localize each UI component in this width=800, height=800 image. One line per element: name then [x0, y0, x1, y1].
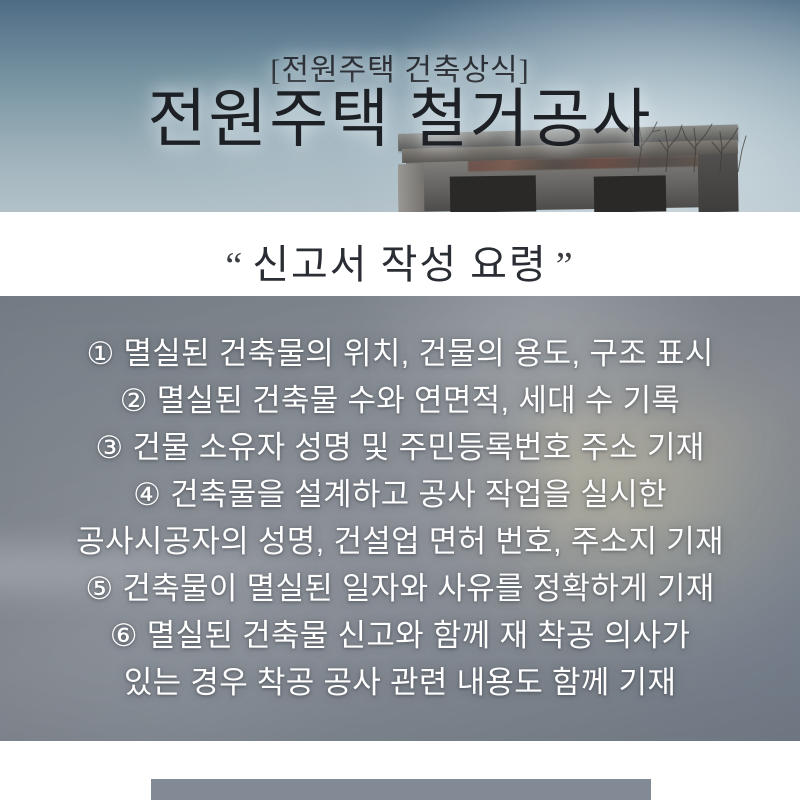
- content-section: ① 멸실된 건축물의 위치, 건물의 용도, 구조 표시 ② 멸실된 건축물 수…: [0, 296, 800, 741]
- subtitle-text: 신고서 작성 요령: [252, 242, 548, 287]
- kicker-label: [전원주택 건축상식]: [0, 45, 800, 89]
- list-item: ⑤ 건축물이 멸실된 일자와 사유를 정확하게 기재: [0, 565, 800, 612]
- hero-photo-banner: [전원주택 건축상식] 전원주택 철거공사: [0, 0, 800, 212]
- list-item: ③ 건물 소유자 성명 및 주민등록번호 주소 기재: [0, 424, 800, 471]
- subtitle: “신고서 작성 요령”: [0, 232, 800, 290]
- list-item: 공사시공자의 성명, 건설업 면허 번호, 주소지 기재: [0, 518, 800, 565]
- footer-area: [0, 741, 800, 800]
- building-window-right: [594, 175, 667, 212]
- infographic-card: [전원주택 건축상식] 전원주택 철거공사 “신고서 작성 요령” ① 멸실된 …: [0, 0, 800, 800]
- list-item: ⑥ 멸실된 건축물 신고와 함께 재 착공 의사가: [0, 612, 800, 659]
- footer-divider-bar: [151, 779, 651, 800]
- subtitle-band: “신고서 작성 요령”: [0, 212, 800, 296]
- list-item: ④ 건축물을 설계하고 공사 작업을 실시한: [0, 471, 800, 518]
- page-title: 전원주택 철거공사: [0, 88, 800, 152]
- list-item: ② 멸실된 건축물 수와 연면적, 세대 수 기록: [0, 377, 800, 424]
- list-item: ① 멸실된 건축물의 위치, 건물의 용도, 구조 표시: [0, 330, 800, 377]
- close-quote-mark: ”: [548, 245, 583, 287]
- building-pillar: [398, 164, 424, 212]
- open-quote-mark: “: [217, 245, 252, 287]
- list-item: 있는 경우 착공 공사 관련 내용도 함께 기재: [0, 659, 800, 706]
- instruction-list: ① 멸실된 건축물의 위치, 건물의 용도, 구조 표시 ② 멸실된 건축물 수…: [0, 330, 800, 706]
- building-window-left: [450, 175, 537, 212]
